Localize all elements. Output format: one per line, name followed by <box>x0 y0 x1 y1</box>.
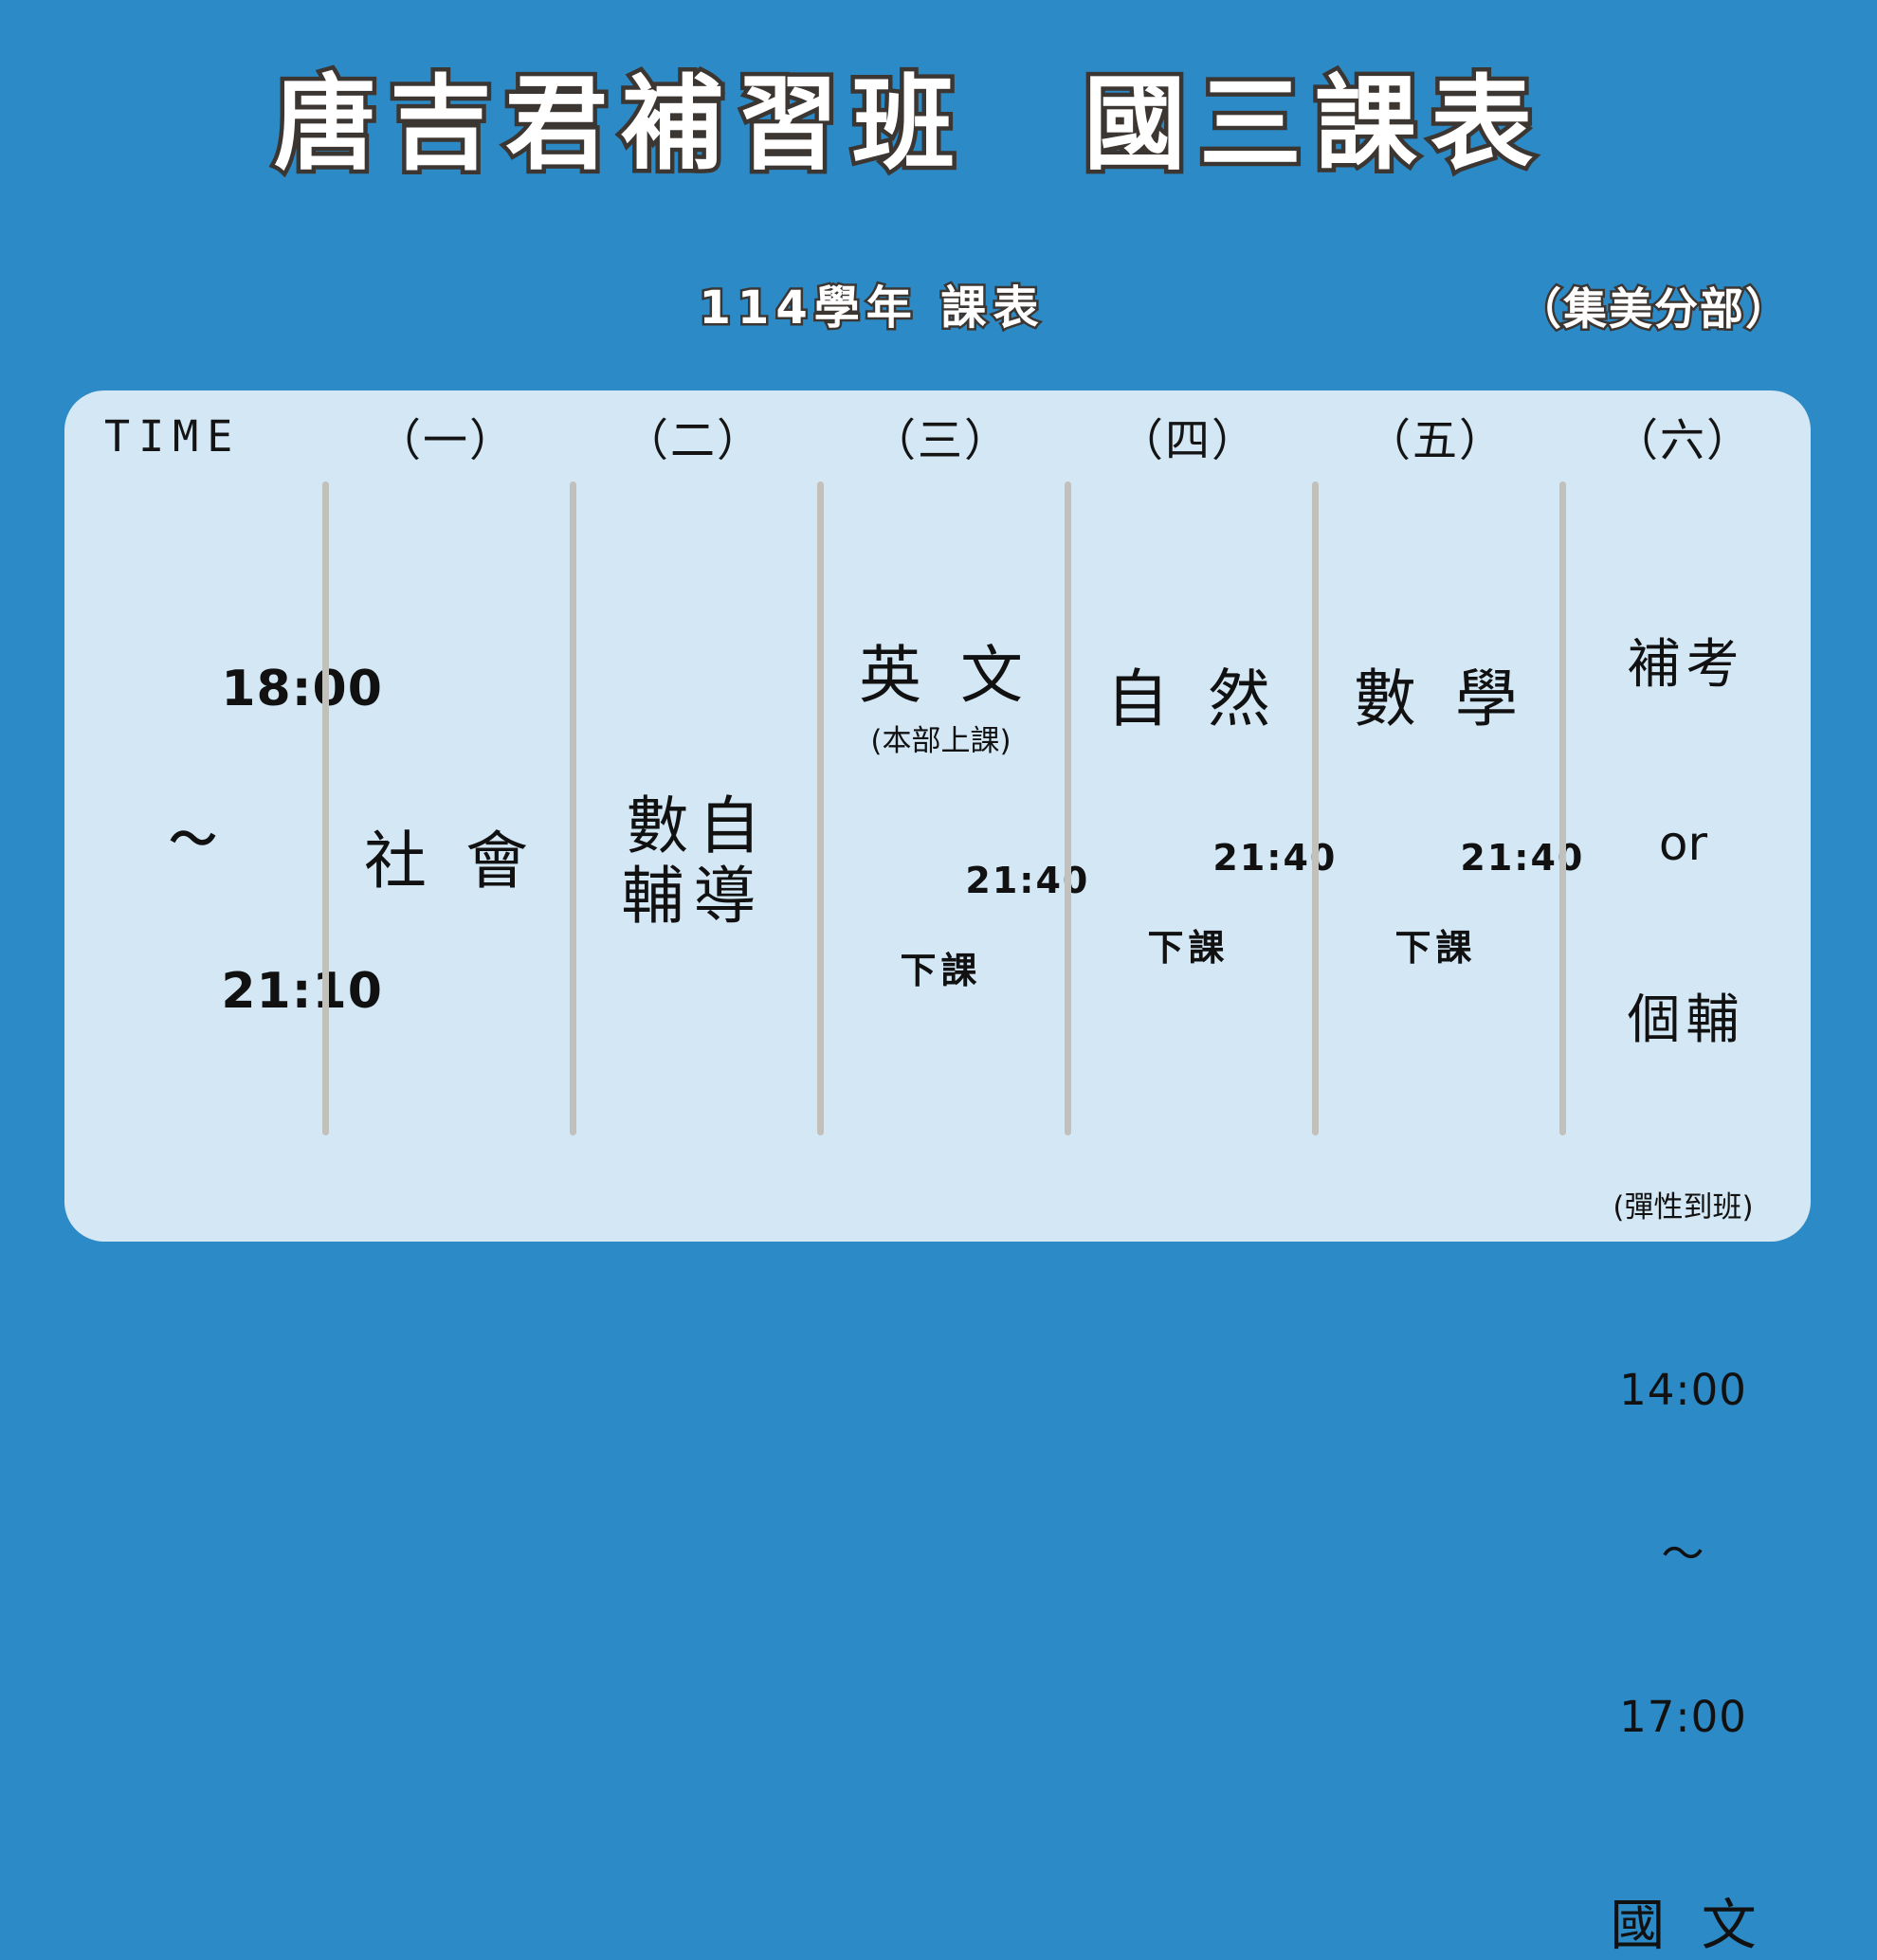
column-header-saturday: （六） <box>1559 390 1807 481</box>
cell-friday: 數 學 21:40 下課 <box>1312 481 1559 1242</box>
subtitle-row: 114學年 課表 （集美分部） <box>0 282 1877 349</box>
saturday-makeup-block: 補考 or 個輔 <box>1548 512 1819 1175</box>
subject-wednesday: 英 文 <box>849 639 1032 713</box>
dismiss-label-friday: 下課 <box>1287 926 1585 971</box>
saturday-time-end: 17:00 <box>1596 1690 1771 1745</box>
column-header-time: TIME <box>64 390 362 481</box>
dismiss-friday: 21:40 下課 <box>1287 790 1585 1061</box>
column-header-thursday: （四） <box>1065 390 1312 481</box>
column-monday[interactable]: （一） 社 會 <box>322 390 570 1242</box>
subject-friday: 數 學 <box>1344 662 1527 736</box>
saturday-tutoring: 個輔 <box>1548 990 1819 1052</box>
schedule-table: TIME 18:00 ～ 21:10 （一） 社 會 （二） <box>64 390 1811 1242</box>
page-title: 唐吉君補習班 國三課表 <box>0 74 1820 176</box>
schedule-poster: 唐吉君補習班 國三課表 114學年 課表 （集美分部） TIME 18:00 ～… <box>0 0 1877 1327</box>
subject-monday: 社 會 <box>355 825 538 898</box>
saturday-makeup-exam: 補考 <box>1548 635 1819 697</box>
saturday-time-range: 14:00 ～ 17:00 <box>1596 1254 1771 1855</box>
branch-label: （集美分部） <box>1450 284 1858 335</box>
column-wednesday[interactable]: （三） 英 文 (本部上課) 21:40 下課 <box>817 390 1065 1242</box>
column-thursday[interactable]: （四） 自 然 21:40 下課 <box>1065 390 1312 1242</box>
column-header-tuesday: （二） <box>570 390 817 481</box>
saturday-time-tilde: ～ <box>1596 1527 1771 1582</box>
column-header-monday: （一） <box>322 390 570 481</box>
column-time: TIME 18:00 ～ 21:10 <box>64 390 322 1242</box>
cell-wednesday: 英 文 (本部上課) 21:40 下課 <box>817 481 1065 1242</box>
saturday-flex-note: (彈性到班) <box>1613 1183 1753 1225</box>
academic-year-subtitle: 114學年 課表 <box>398 282 1346 335</box>
saturday-time-start: 14:00 <box>1596 1363 1771 1418</box>
column-friday[interactable]: （五） 數 學 21:40 下課 <box>1312 390 1559 1242</box>
column-header-wednesday: （三） <box>817 390 1065 481</box>
subject-saturday: 國 文 <box>1600 1880 1765 1960</box>
column-saturday[interactable]: （六） 補考 or 個輔 (彈性到班) 14:00 ～ 17:00 國 文 <box>1559 390 1807 1242</box>
note-wednesday: (本部上課) <box>870 717 1011 759</box>
subject-tuesday: 數自 輔導 <box>617 791 771 932</box>
cell-thursday: 自 然 21:40 下課 <box>1065 481 1312 1242</box>
column-tuesday[interactable]: （二） 數自 輔導 <box>570 390 817 1242</box>
subject-thursday: 自 然 <box>1097 662 1280 736</box>
poster-header: 唐吉君補習班 國三課表 114學年 課表 （集美分部） <box>0 0 1877 379</box>
cell-monday: 社 會 <box>322 481 570 1242</box>
time-column-body: 18:00 ～ 21:10 <box>64 481 322 1242</box>
cell-tuesday: 數自 輔導 <box>570 481 817 1242</box>
saturday-or-label: or <box>1548 820 1819 867</box>
column-header-friday: （五） <box>1312 390 1559 481</box>
cell-saturday: 補考 or 個輔 (彈性到班) 14:00 ～ 17:00 國 文 <box>1559 481 1807 1242</box>
schedule-card: TIME 18:00 ～ 21:10 （一） 社 會 （二） <box>64 390 1811 1242</box>
